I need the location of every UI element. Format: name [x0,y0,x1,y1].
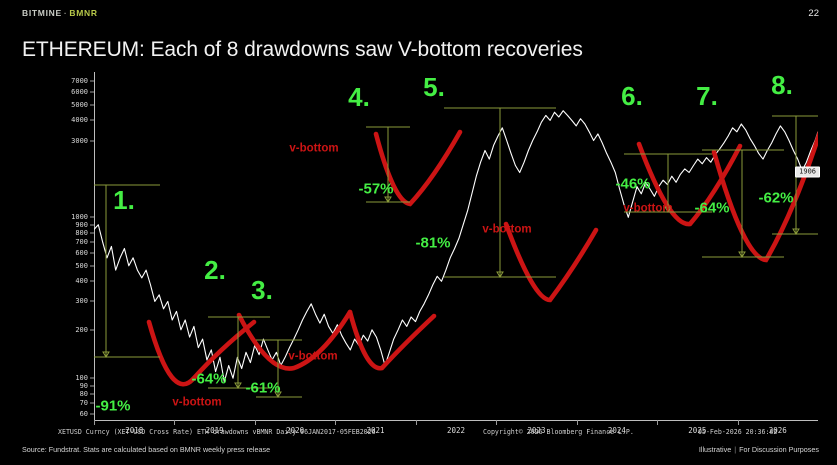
drawdown-number-label: 3. [251,277,273,303]
x-axis-tick-mark [577,420,578,425]
vbottom-curve [350,312,434,368]
drawdown-percent-label: -81% [415,236,450,251]
bloomberg-timestamp: 05-Feb-2026 20:36:02 [698,428,777,436]
brand-separator: · [64,8,68,18]
disclaimer: Illustrative|For Discussion Purposes [699,445,819,454]
x-axis-tick-label: 2022 [447,426,465,435]
bloomberg-security-caption: XETUSD Curncy (XET-USD Cross Rate) ETH d… [58,428,376,436]
current-price-tag: 1906 [795,167,820,178]
y-axis-tick-label: 80 [80,390,88,398]
y-axis-tick-label: 4000 [71,116,88,124]
y-axis-tick-label: 70 [80,399,88,407]
vbottom-label: v-bottom [482,224,531,236]
drawdown-percent-label: -57% [358,182,393,197]
bloomberg-copyright: Copyright© 2026 Bloomberg Finance L.P. [483,428,634,436]
disclaimer-illustrative: Illustrative [699,445,731,454]
y-axis: 7000600050004000300010009008007006005004… [58,72,94,420]
y-axis-tick-label: 7000 [71,77,88,85]
x-axis-tick-mark [738,420,739,425]
x-axis-tick-mark [94,420,95,425]
page-title: ETHEREUM: Each of 8 drawdowns saw V-bott… [22,38,583,62]
x-axis-tick-mark [657,420,658,425]
drawdown-number-label: 6. [621,83,643,109]
y-axis-tick-label: 3000 [71,137,88,145]
drawdown-number-label: 7. [696,83,718,109]
x-axis-tick-mark [335,420,336,425]
drawdown-percent-label: -64% [191,372,226,387]
drawdown-percent-label: -91% [95,399,130,414]
price-line [94,111,818,382]
drawdown-number-label: 1. [113,187,135,213]
drawdown-percent-label: -64% [694,201,729,216]
plot-area [94,72,818,420]
vbottom-label: v-bottom [172,397,221,409]
y-axis-tick-label: 5000 [71,101,88,109]
y-axis-tick-label: 300 [75,297,88,305]
brand-logo: BITMINE·BMNR [22,8,98,18]
y-axis-tick-label: 700 [75,238,88,246]
drawdown-number-label: 5. [423,74,445,100]
disclaimer-separator: | [734,445,736,454]
drawdown-percent-label: -46% [615,177,650,192]
footer: Source: Fundstrat. Stats are calculated … [0,440,837,465]
page-number: 22 [808,8,819,19]
price-series-svg [94,72,818,420]
x-axis-tick-mark [255,420,256,425]
drawdown-number-label: 4. [348,84,370,110]
brand-name: BITMINE [22,8,62,18]
y-axis-tick-label: 90 [80,382,88,390]
vbottom-label: v-bottom [288,351,337,363]
vbottom-label: v-bottom [289,143,338,155]
y-axis-tick-label: 6000 [71,88,88,96]
y-axis-tick-label: 600 [75,249,88,257]
source-note: Source: Fundstrat. Stats are calculated … [22,445,270,454]
drawdown-percent-label: -62% [758,191,793,206]
y-axis-tick-label: 400 [75,277,88,285]
vbottom-label: v-bottom [623,203,672,215]
y-axis-tick-label: 60 [80,410,88,418]
x-axis-line [94,420,818,421]
y-axis-tick-label: 500 [75,262,88,270]
drawdown-number-label: 8. [771,72,793,98]
brand-ticker: BMNR [69,8,97,18]
y-axis-tick-label: 900 [75,221,88,229]
slide-root: BITMINE·BMNR 22 ETHEREUM: Each of 8 draw… [0,0,837,465]
x-axis-tick-mark [496,420,497,425]
drawdown-number-label: 2. [204,257,226,283]
drawdown-percent-label: -61% [245,381,280,396]
y-axis-tick-label: 200 [75,326,88,334]
y-axis-tick-label: 800 [75,229,88,237]
x-axis-tick-mark [416,420,417,425]
x-axis-tick-mark [174,420,175,425]
disclaimer-purpose: For Discussion Purposes [739,445,819,454]
